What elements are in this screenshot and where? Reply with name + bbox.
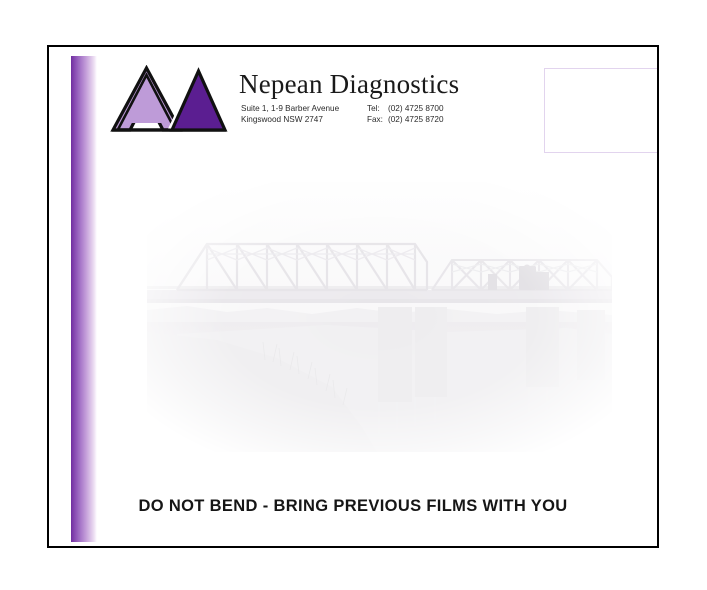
tel-number: (02) 4725 8700 (388, 104, 444, 113)
bank-vegetation (263, 342, 347, 405)
truss-span-left-upper-bracing (207, 248, 415, 260)
fax: Fax:(02) 4725 8720 (367, 114, 455, 125)
hills (147, 306, 612, 332)
bridge-watermark-svg (147, 182, 612, 452)
water-reflection (379, 387, 547, 434)
telephone: Tel:(02) 4725 8700 (367, 103, 455, 114)
train-silhouette (488, 265, 549, 291)
truss-span-right (432, 260, 612, 290)
letterhead-block: Nepean Diagnostics Suite 1, 1-9 Barber A… (110, 65, 455, 157)
logo-svg (110, 65, 232, 133)
left-gradient-accent-bar (71, 56, 97, 542)
footer-notice: DO NOT BEND - BRING PREVIOUS FILMS WITH … (49, 497, 657, 516)
logo-dark-triangle (172, 71, 225, 130)
tel-label: Tel: (367, 103, 388, 114)
address-line-1: Suite 1, 1-9 Barber Avenue (241, 103, 367, 114)
truss-span-left (177, 244, 427, 290)
bridge-watermark (147, 182, 612, 452)
river-bank (147, 332, 377, 452)
nepean-triangles-logo-icon (110, 65, 232, 133)
contact-row-1: Suite 1, 1-9 Barber Avenue Tel:(02) 4725… (241, 103, 456, 114)
river (147, 322, 612, 452)
bridge-deck (147, 286, 612, 303)
contact-row-2: Kingswood NSW 2747 Fax:(02) 4725 8720 (241, 114, 456, 125)
contact-details: Suite 1, 1-9 Barber Avenue Tel:(02) 4725… (241, 103, 456, 125)
fax-number: (02) 4725 8720 (388, 115, 444, 124)
recipient-address-window[interactable] (544, 68, 659, 153)
bridge-piers (378, 307, 605, 402)
company-name: Nepean Diagnostics (239, 69, 459, 100)
logo-baseline (112, 129, 226, 132)
fax-label: Fax: (367, 114, 388, 125)
truss-span-right-upper-bracing (452, 264, 597, 272)
address-line-2: Kingswood NSW 2747 (241, 114, 367, 125)
envelope-canvas: Nepean Diagnostics Suite 1, 1-9 Barber A… (0, 0, 707, 590)
envelope-frame: Nepean Diagnostics Suite 1, 1-9 Barber A… (47, 45, 659, 548)
